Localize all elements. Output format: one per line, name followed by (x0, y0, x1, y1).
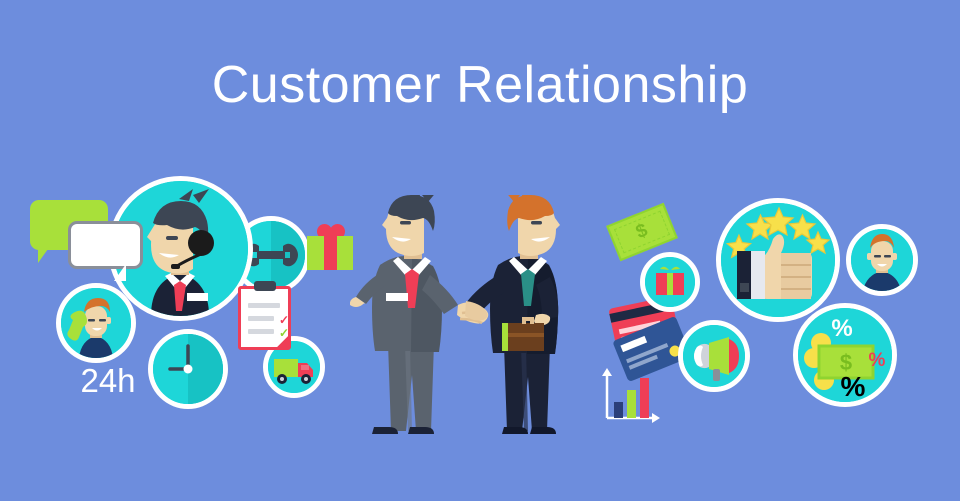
clipboard-line (248, 303, 280, 308)
percent-symbol-white: % (831, 315, 852, 342)
clipboard-clip (254, 281, 276, 291)
check-mark-icon: ✓ (279, 314, 289, 326)
discount-icon: $ % % % (798, 308, 892, 402)
card-magnetic-stripe (620, 336, 647, 352)
handshake-scene (350, 195, 600, 460)
bar-item (614, 402, 623, 418)
handshake-illustration (350, 195, 600, 460)
megaphone-icon (683, 325, 745, 387)
currency-symbol: $ (609, 205, 676, 258)
gift-box-icon (645, 257, 695, 307)
clipboard-fold-inner (277, 336, 288, 347)
bar-item (640, 378, 649, 418)
clipboard-line (248, 316, 274, 321)
percent-symbol-black: % (841, 371, 866, 402)
percent-symbol-red: % (869, 350, 886, 371)
phone-operator-circle (56, 283, 136, 363)
page-title: Customer Relationship (0, 55, 960, 115)
clock-icon (153, 334, 223, 404)
bar-item (627, 390, 636, 418)
hours-badge-label: 24h (62, 362, 154, 400)
happy-customer-icon (851, 229, 913, 291)
clipboard-line (248, 329, 274, 334)
checklist-clipboard-icon: ✓ ✓ (238, 286, 291, 350)
chat-bubbles-icon (30, 200, 135, 295)
happy-customer-circle (846, 224, 918, 296)
clock-circle (148, 329, 228, 409)
illustration-canvas: Customer Relationship (0, 0, 960, 501)
gift-box-icon (307, 222, 353, 270)
gift-box-circle (640, 252, 700, 312)
megaphone-circle (678, 320, 750, 392)
chat-bubble-white (68, 221, 143, 269)
thumbs-up-rating-icon (721, 203, 835, 317)
gift-ribbon (324, 236, 337, 270)
thumbs-up-circle (716, 198, 840, 322)
discount-circle: $ % % % (793, 303, 897, 407)
phone-operator-icon (61, 288, 131, 358)
